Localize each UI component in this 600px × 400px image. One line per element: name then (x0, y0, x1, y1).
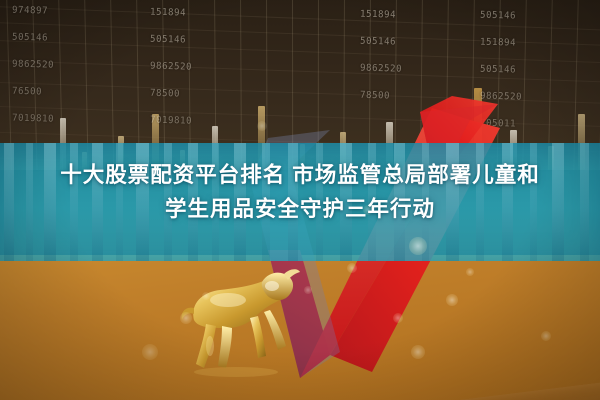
headline-line-1: 十大股票配资平台排名 市场监管总局部署儿童和 (0, 158, 600, 192)
bokeh-light (202, 292, 210, 300)
bokeh-light (257, 121, 267, 131)
bokeh-light (466, 268, 474, 276)
bokeh-light (541, 331, 551, 341)
bokeh-light (142, 344, 158, 360)
banner-image: 9748975051469862520765007019810151894505… (0, 0, 600, 400)
bokeh-light (411, 345, 425, 359)
bokeh-light (180, 312, 192, 324)
bokeh-light (304, 286, 312, 294)
bokeh-light (446, 294, 458, 306)
bokeh-light (347, 263, 357, 273)
bokeh-light (393, 313, 403, 323)
headline-line-2: 学生用品安全守护三年行动 (0, 192, 600, 226)
headline-text: 十大股票配资平台排名 市场监管总局部署儿童和 学生用品安全守护三年行动 (0, 158, 600, 226)
bokeh-light (409, 237, 427, 255)
